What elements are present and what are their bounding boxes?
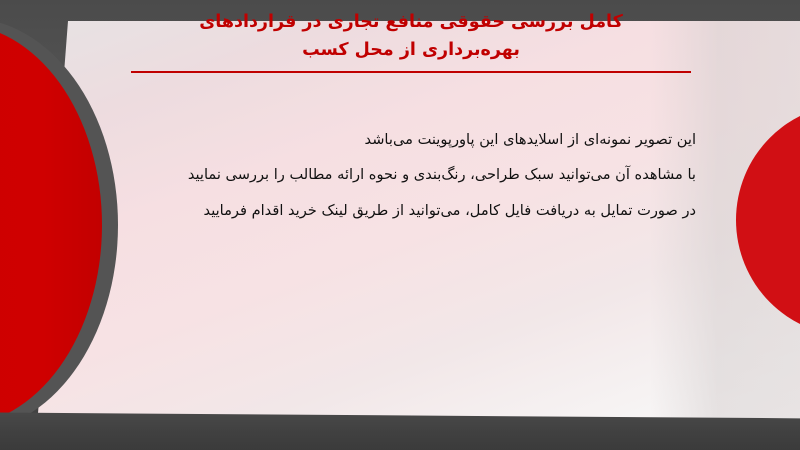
slide-body-text: این تصویر نمونه‌ای از اسلایدهای این پاور…: [120, 122, 696, 228]
body-line-2: با مشاهده آن می‌توانید سبک طراحی، رنگ‌بن…: [120, 157, 696, 192]
presentation-slide: کامل بررسی حقوقی منافع تجاری در قرارداده…: [0, 0, 800, 450]
slide-title: کامل بررسی حقوقی منافع تجاری در قرارداده…: [130, 8, 692, 65]
title-underline-rule: [131, 71, 691, 73]
body-line-3: در صورت تمایل به دریافت فایل کامل، می‌تو…: [120, 193, 696, 228]
slide-title-line-2: بهره‌برداری از محل کسب: [130, 36, 692, 64]
body-line-1: این تصویر نمونه‌ای از اسلایدهای این پاور…: [120, 122, 696, 157]
slide-title-line-1: کامل بررسی حقوقی منافع تجاری در قرارداده…: [130, 8, 692, 36]
